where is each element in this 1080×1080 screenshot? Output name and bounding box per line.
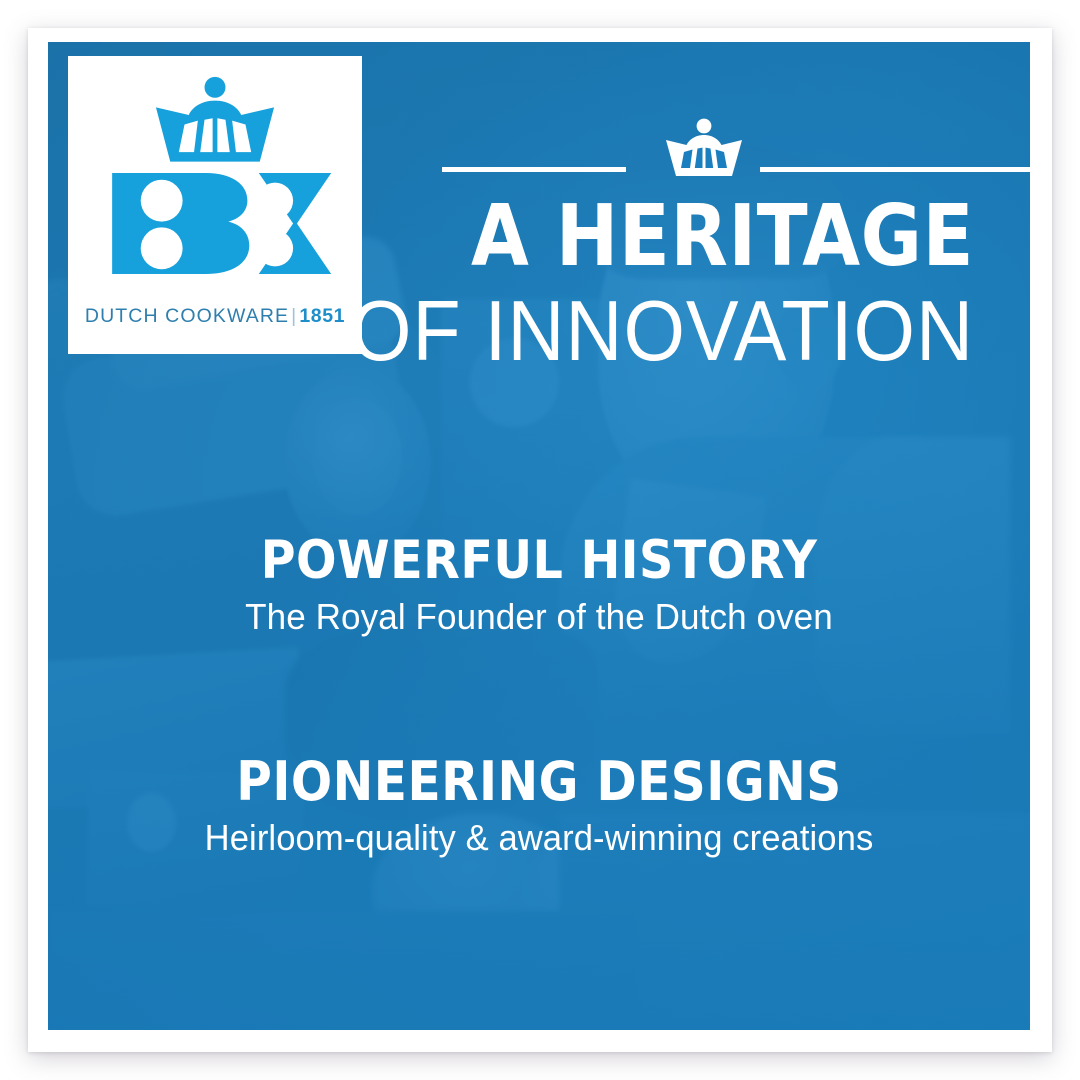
feature-subtitle: The Royal Founder of the Dutch oven (68, 597, 1011, 637)
brand-tagline-separator: | (289, 305, 299, 327)
crown-icon (156, 77, 274, 162)
feature-subtitle: Heirloom-quality & award-winning creatio… (68, 818, 1011, 858)
crown-divider (442, 118, 1030, 180)
brand-tagline-text: DUTCH COOKWARE (85, 305, 289, 327)
product-image-card: A HERITAGE OF INNOVATION POWERFUL HISTOR… (28, 28, 1052, 1052)
feature-block-powerful-history: POWERFUL HISTORY The Royal Founder of th… (48, 534, 1030, 637)
bk-crown-monogram-logo (68, 74, 362, 274)
brand-tagline: DUTCH COOKWARE|1851 (68, 305, 362, 328)
brand-tagline-year: 1851 (299, 305, 345, 327)
brand-logo-block: DUTCH COOKWARE|1851 (68, 56, 362, 354)
feature-title: POWERFUL HISTORY (97, 534, 981, 588)
divider-rule-right (760, 167, 1030, 172)
feature-title: PIONEERING DESIGNS (97, 754, 981, 809)
crown-icon (654, 118, 754, 180)
divider-rule-left (442, 167, 626, 172)
hero-panel: A HERITAGE OF INNOVATION POWERFUL HISTOR… (48, 42, 1030, 1030)
feature-block-pioneering-designs: PIONEERING DESIGNS Heirloom-quality & aw… (48, 754, 1030, 858)
